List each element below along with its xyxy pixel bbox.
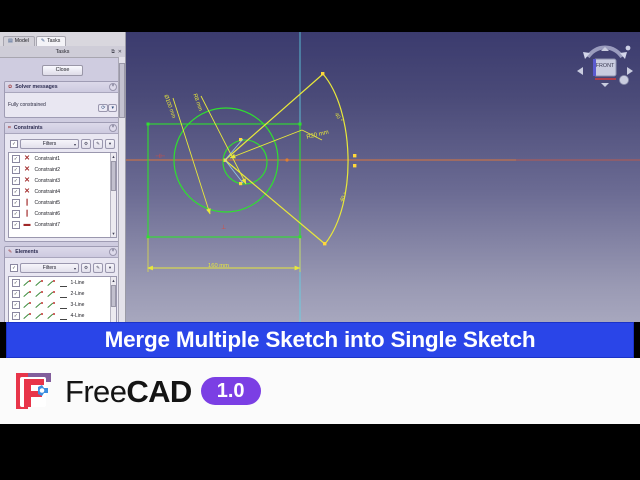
- solver-messages-title: Solver messages: [15, 84, 57, 90]
- element-label: 1-Line: [71, 280, 85, 286]
- tab-model-label: Model: [15, 39, 29, 44]
- constraints-filter-row: ✓ Filters ▾ ⚙ ✎ ▾: [8, 137, 117, 152]
- list-item[interactable]: ✓ ❙ Constraint6: [9, 208, 116, 219]
- solver-status-text: Fully constrained: [8, 102, 46, 108]
- constraints-list[interactable]: ✓ ✕ Constraint1 ✓ ✕ Constraint2 ✓: [8, 152, 117, 238]
- constraints-body: ✓ Filters ▾ ⚙ ✎ ▾ ✓ ✕: [5, 134, 120, 241]
- elements-group: ✎ Elements × ✓ Filters ▾ ⚙ ✎: [4, 246, 121, 322]
- constraints-collapse-button[interactable]: ×: [109, 124, 117, 132]
- fan-vertex[interactable]: [323, 242, 326, 245]
- scroll-up-icon[interactable]: ▲: [111, 153, 116, 160]
- sketch-canvas[interactable]: ⊣⊢ ⊥: [126, 32, 640, 322]
- tab-tasks[interactable]: ✎ Tasks: [36, 36, 66, 46]
- element-checkbox[interactable]: ✓: [12, 290, 20, 298]
- element-checkbox[interactable]: ✓: [12, 301, 20, 309]
- diameter-leader[interactable]: [173, 98, 210, 214]
- constraints-group: ⌗ Constraints × ✓ Filters ▾ ⚙ ✎: [4, 122, 121, 242]
- constraints-icon: ⌗: [8, 125, 11, 131]
- fan-outer-arc[interactable]: [323, 74, 348, 244]
- brand-wordmark: FreeCAD: [65, 376, 192, 407]
- elements-list-scrollbar[interactable]: ▲ ▼: [110, 277, 116, 322]
- elements-title: Elements: [15, 249, 38, 255]
- element-checkbox[interactable]: ✓: [12, 312, 20, 320]
- corner-dot-icon: [626, 46, 631, 51]
- letterbox-bottom: [0, 424, 640, 480]
- fan-vertex[interactable]: [321, 72, 324, 75]
- constraints-filter-label: Filters: [43, 141, 57, 147]
- constraint-label: Constraint6: [35, 211, 61, 217]
- list-item[interactable]: ✓ ❙ Constraint5: [9, 197, 116, 208]
- model-tab-icon: ▤: [8, 39, 13, 44]
- constraint-glyph-horizontal-icon: ▬: [23, 221, 32, 228]
- element-checkbox[interactable]: ✓: [12, 279, 20, 287]
- freecad-logo-icon: [14, 370, 56, 412]
- constraint-checkbox[interactable]: ✓: [12, 199, 20, 207]
- elements-icon: ✎: [8, 249, 12, 255]
- title-banner: Merge Multiple Sketch into Single Sketch: [6, 322, 634, 358]
- elements-more-icon[interactable]: ▾: [105, 263, 115, 273]
- constraint-label: Constraint2: [35, 167, 61, 173]
- solver-messages-body: Fully constrained ⟳▾: [5, 93, 120, 117]
- inner-vertex[interactable]: [239, 182, 242, 185]
- brand-free-text: Free: [65, 374, 126, 409]
- constraints-header[interactable]: ⌗ Constraints ×: [5, 123, 120, 134]
- tab-model[interactable]: ▤ Model: [3, 36, 35, 46]
- elements-filter-label: Filters: [43, 265, 57, 271]
- constraint-glyph-coincident-icon: ✕: [23, 188, 32, 195]
- constraint-checkbox[interactable]: ✓: [12, 155, 20, 163]
- close-button[interactable]: Close: [42, 65, 84, 76]
- inner-lower-line[interactable]: [225, 160, 243, 183]
- right-arrow-icon: [627, 67, 633, 75]
- float-icon[interactable]: ⧉: [111, 49, 115, 55]
- panel-tab-strip: ▤ Model ✎ Tasks: [0, 32, 125, 46]
- task-panel-title: Tasks: [56, 49, 70, 55]
- constraint-glyph-vertical-icon: ❙: [23, 199, 32, 206]
- brand-cad-text: CAD: [126, 374, 191, 409]
- left-arrow-icon: [577, 67, 583, 75]
- tasks-tab-icon: ✎: [41, 39, 45, 44]
- solver-icon: ✿: [8, 84, 12, 90]
- elements-filter-checkbox[interactable]: ✓: [10, 264, 18, 272]
- fan-vertex[interactable]: [353, 154, 356, 157]
- task-panel-body: Close ✿ Solver messages × Fully constrai…: [0, 58, 125, 322]
- elements-settings-icon[interactable]: ⚙: [81, 263, 91, 273]
- down-arrow-icon: [601, 83, 609, 87]
- task-panel-scrollbar[interactable]: [118, 57, 125, 322]
- solver-messages-header[interactable]: ✿ Solver messages ×: [5, 82, 120, 93]
- list-item[interactable]: ✓ ✕ Constraint1: [9, 153, 116, 164]
- list-item[interactable]: ✓ ✕ Constraint2: [9, 164, 116, 175]
- constraint-point: [285, 158, 288, 161]
- task-panel-header-buttons: ⧉ ✕: [111, 49, 122, 55]
- solver-messages-group: ✿ Solver messages × Fully constrained ⟳▾: [4, 81, 121, 118]
- screenshot-root: ▤ Model ✎ Tasks Tasks ⧉ ✕ Close: [0, 0, 640, 480]
- navigation-cube[interactable]: FRONT: [574, 35, 636, 91]
- elements-edit-icon[interactable]: ✎: [93, 263, 103, 273]
- nav-cube-face-label[interactable]: FRONT: [594, 63, 616, 69]
- task-panel-header: Tasks ⧉ ✕: [0, 46, 125, 58]
- 3d-viewport[interactable]: ⊣⊢ ⊥ Ø100 mm R8 mm R20 mm 40 ° 40 ° 160 …: [126, 32, 640, 322]
- constraint-label: Constraint4: [35, 189, 61, 195]
- elements-body: ✓ Filters ▾ ⚙ ✎ ▾ ✓: [5, 258, 120, 322]
- fan-upper-line[interactable]: [225, 74, 323, 160]
- banner-title: Merge Multiple Sketch into Single Sketch: [105, 327, 536, 353]
- constraint-mark: ⊥: [221, 224, 226, 231]
- constraints-filter-checkbox[interactable]: ✓: [10, 140, 18, 148]
- element-label: 4-Line: [71, 313, 85, 319]
- element-label: 2-Line: [71, 291, 85, 297]
- brand-logo-group: FreeCAD 1.0: [14, 370, 261, 412]
- width-dim-label[interactable]: 160 mm: [208, 263, 229, 269]
- constraints-more-icon[interactable]: ▾: [105, 139, 115, 149]
- constraint-checkbox[interactable]: ✓: [12, 166, 20, 174]
- constraints-title: Constraints: [14, 125, 43, 131]
- list-item[interactable]: ✓ ✕ Constraint3: [9, 175, 116, 186]
- scrollbar-thumb[interactable]: [119, 63, 125, 118]
- scrollbar-thumb[interactable]: [111, 285, 116, 307]
- constraint-mark: ⊣⊢: [155, 153, 165, 160]
- constraint-label: Constraint1: [35, 156, 61, 162]
- line-end-icon: [47, 307, 56, 322]
- list-item[interactable]: ✓ ▬ Constraint7: [9, 219, 116, 230]
- constraint-label: Constraint5: [35, 200, 61, 206]
- close-icon[interactable]: ✕: [118, 49, 122, 55]
- letterbox-top: [0, 0, 640, 32]
- constraint-checkbox[interactable]: ✓: [12, 188, 20, 196]
- close-button-bar: Close: [4, 62, 121, 81]
- task-panel: ▤ Model ✎ Tasks Tasks ⧉ ✕ Close: [0, 32, 126, 322]
- constraint-checkbox[interactable]: ✓: [12, 177, 20, 185]
- elements-filter-row: ✓ Filters ▾ ⚙ ✎ ▾: [8, 261, 117, 276]
- constraint-glyph-coincident-icon: ✕: [23, 166, 32, 173]
- elements-collapse-button[interactable]: ×: [109, 248, 117, 256]
- elements-list[interactable]: ✓ 1-Line ✓: [8, 276, 117, 322]
- scroll-down-icon[interactable]: ▼: [111, 230, 116, 237]
- chevron-down-icon: ▾: [74, 142, 76, 147]
- list-item[interactable]: ✓ ✕ Constraint4: [9, 186, 116, 197]
- constraints-edit-icon[interactable]: ✎: [93, 139, 103, 149]
- rect-vertex[interactable]: [299, 123, 302, 126]
- constraint-checkbox[interactable]: ✓: [12, 221, 20, 229]
- constraint-label: Constraint7: [35, 222, 61, 228]
- constraints-settings-icon[interactable]: ⚙: [81, 139, 91, 149]
- constraint-label: Constraint3: [35, 178, 61, 184]
- version-badge: 1.0: [201, 377, 261, 405]
- home-icon: [620, 76, 629, 85]
- freecad-window: ▤ Model ✎ Tasks Tasks ⧉ ✕ Close: [0, 32, 640, 322]
- tab-tasks-label: Tasks: [47, 39, 60, 44]
- elements-filter-select[interactable]: Filters ▾: [20, 263, 79, 273]
- chevron-down-icon: ▾: [74, 266, 76, 271]
- constraints-filter-select[interactable]: Filters ▾: [20, 139, 79, 149]
- constraints-list-scrollbar[interactable]: ▲ ▼: [110, 153, 116, 237]
- rect-vertex[interactable]: [147, 123, 150, 126]
- solver-actions: ⟳▾: [98, 96, 117, 114]
- constraint-glyph-coincident-icon: ✕: [23, 177, 32, 184]
- solver-collapse-button[interactable]: ×: [109, 83, 117, 91]
- line-start-icon: [35, 307, 44, 322]
- solver-dropdown-icon[interactable]: ▾: [108, 104, 117, 112]
- line-edge-icon: [23, 307, 32, 322]
- fan-vertex[interactable]: [353, 164, 356, 167]
- constraint-checkbox[interactable]: ✓: [12, 210, 20, 218]
- solver-status-row: Fully constrained ⟳▾: [8, 96, 117, 114]
- constraint-glyph-coincident-icon: ✕: [23, 155, 32, 162]
- scroll-up-icon[interactable]: ▲: [111, 277, 116, 284]
- footer-bar: FreeCAD 1.0: [0, 358, 640, 424]
- element-label: 3-Line: [71, 302, 85, 308]
- constraint-glyph-vertical-icon: ❙: [23, 210, 32, 217]
- refresh-icon[interactable]: ⟳: [98, 104, 108, 112]
- scrollbar-thumb[interactable]: [111, 161, 116, 191]
- elements-header[interactable]: ✎ Elements ×: [5, 247, 120, 258]
